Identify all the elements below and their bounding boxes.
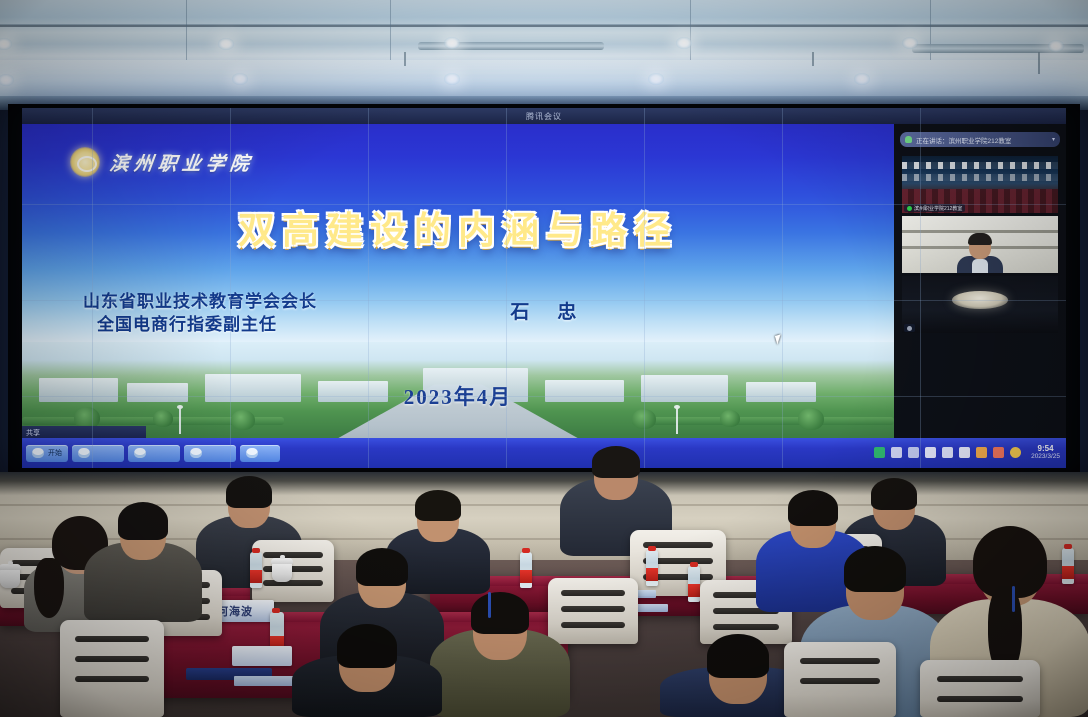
screen-share-label: 共享 [26,428,40,438]
chair-slat [800,678,881,684]
water-bottle [688,566,700,602]
ceiling-slab [0,60,1088,96]
person-hair [844,546,906,592]
nameplate-text: 何海波 [217,603,253,619]
ceiling-downlight [0,38,12,50]
media-icon [246,448,258,458]
thumbnail-person [957,235,1003,273]
water-bottle [520,552,532,588]
clock-date: 2023/3/25 [1031,454,1060,461]
led-video-wall: 腾讯会议 [8,104,1080,472]
window-icon [190,448,202,458]
chair-slat [263,580,322,586]
ceiling-downlight [648,73,664,85]
affiliation-line-2: 全国电商行指委副主任 [83,314,317,337]
attendee [84,498,202,622]
participant-thumbnail[interactable] [902,216,1058,273]
bottle-cap [690,562,698,567]
person-hair [788,490,838,526]
active-speaker-banner[interactable]: 正在讲话：滨州职业学院212教室 ▾ [900,132,1060,147]
folder-icon[interactable] [993,447,1004,458]
taskbar-clock[interactable]: 9:54 2023/3/25 [1027,445,1060,460]
led-panel-seam [230,108,231,468]
windows-taskbar[interactable]: 开始 [22,438,1066,468]
volume-icon[interactable] [959,447,970,458]
cup-knob [8,561,13,565]
ceiling-downlight [854,73,870,85]
led-panel-seam [368,108,369,468]
person-hair [471,592,529,634]
chevron-up-icon[interactable] [925,447,936,458]
meeting-app-titlebar: 腾讯会议 [22,108,1066,124]
microphone-muted-icon [907,326,912,331]
bottle-label [250,570,262,583]
ceiling-downlight [902,37,918,49]
led-panel-seam [644,108,645,468]
campus-hedge [632,417,894,425]
chevron-down-icon[interactable]: ▾ [1052,136,1055,143]
chair-slat [561,590,626,596]
led-panel-seam [506,108,507,468]
taskbar-buttons: 开始 [22,445,826,462]
taskbar-item-window[interactable] [184,445,236,462]
chair-slat [75,636,150,642]
chair-slat [75,676,150,682]
person-hair [356,548,408,586]
led-panel-seam [782,108,783,468]
led-panel-seam [22,396,1066,397]
cup-knob [280,555,285,559]
window-icon [134,448,146,458]
chair [920,660,1040,717]
affiliation-line-1: 山东省职业技术教育学会会长 [83,291,317,314]
campus-tree [231,410,255,430]
participant-thumbnail[interactable] [902,276,1058,333]
campus-tree [798,408,824,430]
taskbar-item-window[interactable] [128,445,180,462]
cloud-icon[interactable] [1010,447,1021,458]
led-panel-seam [22,204,1066,205]
shared-screen-area[interactable]: 滨州职业学院 双高建设的内涵与路径 山东省职业技术教育学会会长 全国电商行指委副… [22,124,894,454]
slide-speaker-name: 石忠 [510,297,604,324]
ceiling-rod [812,52,814,66]
person-hair [707,634,769,678]
ceiling-seam [0,25,1088,27]
chair [784,642,896,717]
ceiling-downlight [444,37,460,49]
taskbar-item-explorer[interactable] [72,445,124,462]
bottle-cap [252,548,260,553]
campus-lamp [179,408,181,434]
person-hair [871,478,917,510]
attendee [292,620,442,717]
person-ponytail [34,558,64,618]
video-wall-screen[interactable]: 腾讯会议 [22,108,1066,468]
shield-icon[interactable] [976,447,987,458]
taskbar-item-start[interactable]: 开始 [26,445,68,462]
explorer-icon [78,448,90,458]
start-icon [32,448,44,458]
thumbnail-name: 滨州职业学院212教室 [914,205,962,212]
campus-tree [153,410,173,427]
person-hair [415,490,461,521]
ceiling-downlight [1048,40,1064,52]
thumbnail-video-dark [902,276,1058,333]
ceiling [0,0,1088,96]
microphone-icon [907,206,912,211]
chair-slat [937,696,1023,702]
slide-organization-logo: 滨州职业学院 [70,147,254,177]
ceiling-rod [404,52,406,66]
person-hair [118,502,168,540]
nameplate [232,646,292,666]
slide-organization-name: 滨州职业学院 [108,149,255,176]
taskbar-item-label: 开始 [48,448,62,458]
water-bottle [250,552,262,588]
chair-slat [561,606,626,612]
ceiling-downlight [232,73,248,85]
ceiling-downlight [676,37,692,49]
campus-tree [720,410,740,427]
chair-slat [561,622,626,628]
active-speaker-label: 正在讲话：滨州职业学院212教室 [916,135,1011,145]
chair-slat [75,656,150,662]
thumbnail-video-office [902,216,1058,273]
keyboard-icon[interactable] [891,447,902,458]
bottle-cap [272,608,280,613]
tea-cup [0,568,20,588]
thumbnail-label: 滨州职业学院212教室 [904,204,965,212]
slide-speaker-affiliation: 山东省职业技术教育学会会长 全国电商行指委副主任 [83,291,317,337]
chair-slat [713,624,779,630]
person-hair [968,233,992,245]
ime-icon[interactable] [908,447,919,458]
person-hair [592,446,640,478]
chair-slat [800,658,881,664]
led-panel-seam [22,300,1066,301]
hall-ceiling-lights [902,162,1058,169]
presentation-slide: 滨州职业学院 双高建设的内涵与路径 山东省职业技术教育学会会长 全国电商行指委副… [22,124,894,454]
chair-slat [263,552,322,558]
taskbar-item-media[interactable] [240,445,280,462]
hall-ceiling-lights [902,174,1058,181]
tea-cup [272,562,292,582]
chair-slat [937,676,1023,682]
bottle-cap [648,546,656,551]
person-shirt [972,259,988,273]
bottle-label [520,570,532,583]
attendee [430,586,570,717]
tencent-meeting-icon[interactable] [874,447,885,458]
microphone-icon [905,136,912,143]
ceiling-downlight [444,73,460,85]
thumbnail-label [904,324,915,332]
campus-lamp [676,408,678,434]
meeting-app-title: 腾讯会议 [526,111,562,122]
system-tray[interactable]: 9:54 2023/3/25 [874,445,1066,460]
bottle-label [688,584,700,597]
bottle-cap [522,548,530,553]
lanyard [488,592,491,618]
led-panel-seam [92,108,93,468]
person-hair [226,476,272,508]
led-panel-seam [920,108,921,468]
lanyard [1012,586,1015,612]
conference-room-scene: 腾讯会议 [0,0,1088,717]
network-icon[interactable] [942,447,953,458]
chair [60,620,164,717]
ceiling-downlight [218,38,234,50]
person-hair [337,624,397,668]
university-seal-icon [70,147,100,177]
ceiling-rod [1038,52,1040,74]
slide-title: 双高建设的内涵与路径 [22,200,894,254]
water-bottle [646,550,658,586]
bottle-label [646,568,658,581]
